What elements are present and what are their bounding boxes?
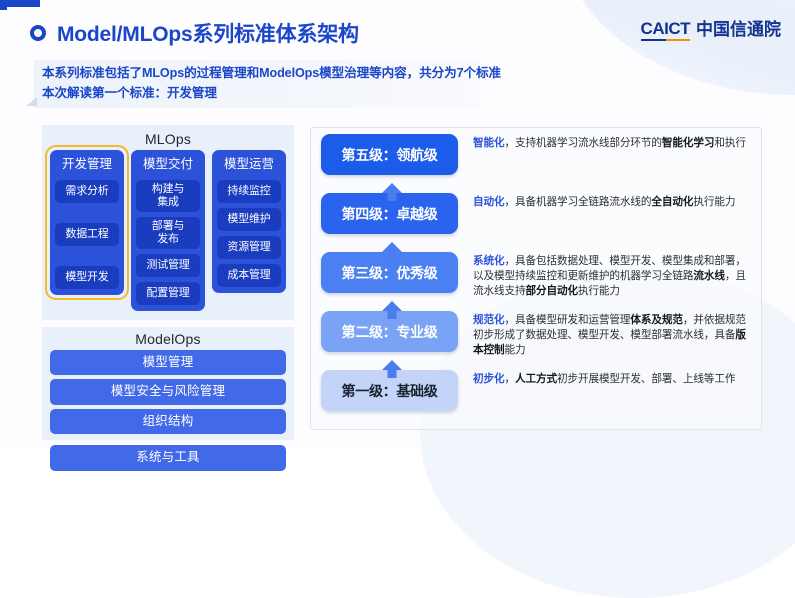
- caict-logo: CAICT 中国信通院: [641, 20, 781, 41]
- mlops-item-test-management[interactable]: 测试管理: [136, 254, 200, 277]
- maturity-desc-3: 系统化，具备包括数据处理、模型开发、模型集成和部署，以及模型持续监控和更新维护的…: [458, 252, 753, 299]
- mlops-group: MLOps 开发管理 需求分析 数据工程 模型开发 模型交付 构建与集成 部署与…: [42, 125, 294, 320]
- subtitle-ribbon-tail: [26, 97, 37, 106]
- mlops-column-operations[interactable]: 模型运营 持续监控 模型维护 资源管理 成本管理: [212, 150, 286, 293]
- modelops-group: ModelOps 模型管理 模型安全与风险管理 组织结构: [42, 327, 294, 441]
- maturity-lead-3: 系统化: [473, 255, 504, 267]
- maturity-desc-1: 初步化，人工方式初步开展模型开发、部署、上线等工作: [458, 370, 753, 387]
- maturity-desc-2: 规范化，具备模型研发和运营管理体系及规范，并依据规范初步形成了数据处理、模型开发…: [458, 311, 753, 358]
- column-header-label: 模型运营: [217, 154, 281, 175]
- up-arrow-icon: [381, 359, 403, 379]
- maturity-body-1: ，人工方式初步开展模型开发、部署、上线等工作: [504, 373, 735, 385]
- logo-underline-orange: [666, 39, 690, 42]
- mlops-item-continuous-monitoring[interactable]: 持续监控: [217, 180, 281, 203]
- column-header-label: 模型交付: [136, 154, 200, 175]
- modelops-item-security-risk[interactable]: 模型安全与风险管理: [50, 379, 286, 405]
- maturity-body-3: ，具备包括数据处理、模型开发、模型集成和部署，以及模型持续监控和更新维护的机器学…: [473, 255, 746, 297]
- modelops-title: ModelOps: [50, 329, 286, 350]
- mlops-column-development[interactable]: 开发管理 需求分析 数据工程 模型开发: [50, 150, 124, 295]
- maturity-body-4: ，具备机器学习全链路流水线的全自动化执行能力: [504, 196, 735, 208]
- mlops-column-delivery[interactable]: 模型交付 构建与集成 部署与发布 测试管理 配置管理: [131, 150, 205, 311]
- mlops-item-resource-management[interactable]: 资源管理: [217, 236, 281, 259]
- logo-en-text: CAICT: [641, 20, 690, 41]
- maturity-lead-5: 智能化: [473, 137, 504, 149]
- logo-underline-blue: [641, 39, 667, 42]
- maturity-level-box-5[interactable]: 第五级：领航级: [321, 134, 458, 175]
- subtitle-text: 本系列标准包括了MLOps的过程管理和ModelOps模型治理等内容，共分为7个…: [42, 63, 512, 104]
- mlops-item-requirement-analysis[interactable]: 需求分析: [55, 180, 119, 203]
- mlops-item-config-management[interactable]: 配置管理: [136, 282, 200, 305]
- modelops-item-model-management[interactable]: 模型管理: [50, 350, 286, 376]
- mlops-item-data-engineering[interactable]: 数据工程: [55, 223, 119, 246]
- maturity-body-2: ，具备模型研发和运营管理体系及规范，并依据规范初步形成了数据处理、模型开发、模型…: [473, 314, 746, 356]
- mlops-item-cost-management[interactable]: 成本管理: [217, 264, 281, 287]
- mlops-column-row: 开发管理 需求分析 数据工程 模型开发 模型交付 构建与集成 部署与发布 测试管…: [50, 150, 286, 311]
- subtitle-line-2: 本次解读第一个标准：开发管理: [42, 83, 512, 103]
- maturity-ladder: 第五级：领航级 智能化，支持机器学习流水线部分环节的智能化学习和执行 第四级：卓…: [311, 128, 761, 429]
- corner-accent-bar-vertical: [0, 0, 7, 10]
- spacer: [55, 208, 119, 218]
- maturity-lead-1: 初步化: [473, 373, 504, 385]
- mlops-title: MLOps: [50, 129, 286, 150]
- maturity-model-panel: 第五级：领航级 智能化，支持机器学习流水线部分环节的智能化学习和执行 第四级：卓…: [310, 127, 762, 430]
- up-arrow-icon: [381, 300, 403, 320]
- systems-and-tools-bar[interactable]: 系统与工具: [50, 445, 286, 471]
- standards-architecture-panel: MLOps 开发管理 需求分析 数据工程 模型开发 模型交付 构建与集成 部署与…: [42, 125, 294, 471]
- page-title: Model/MLOps系列标准体系架构: [57, 18, 359, 48]
- maturity-rung-5: 第五级：领航级 智能化，支持机器学习流水线部分环节的智能化学习和执行: [321, 134, 753, 190]
- maturity-lead-2: 规范化: [473, 314, 504, 326]
- mlops-item-model-development[interactable]: 模型开发: [55, 266, 119, 289]
- column-header-label: 开发管理: [55, 154, 119, 175]
- modelops-item-organization[interactable]: 组织结构: [50, 409, 286, 435]
- mlops-item-build-integration[interactable]: 构建与集成: [136, 180, 200, 212]
- logo-en-label: CAICT: [641, 19, 690, 38]
- spacer: [55, 251, 119, 261]
- slide-root: Model/MLOps系列标准体系架构 CAICT 中国信通院 本系列标准包括了…: [0, 0, 795, 448]
- logo-cn-label: 中国信通院: [696, 21, 781, 41]
- maturity-desc-4: 自动化，具备机器学习全链路流水线的全自动化执行能力: [458, 193, 753, 210]
- ring-icon: [30, 25, 46, 41]
- subtitle-line-1: 本系列标准包括了MLOps的过程管理和ModelOps模型治理等内容，共分为7个…: [42, 63, 512, 83]
- maturity-lead-4: 自动化: [473, 196, 504, 208]
- maturity-body-5: ，支持机器学习流水线部分环节的智能化学习和执行: [504, 137, 745, 149]
- up-arrow-icon: [381, 182, 403, 202]
- mlops-item-deploy-release[interactable]: 部署与发布: [136, 217, 200, 249]
- maturity-desc-5: 智能化，支持机器学习流水线部分环节的智能化学习和执行: [458, 134, 753, 151]
- mlops-item-model-maintenance[interactable]: 模型维护: [217, 208, 281, 231]
- up-arrow-icon: [381, 241, 403, 261]
